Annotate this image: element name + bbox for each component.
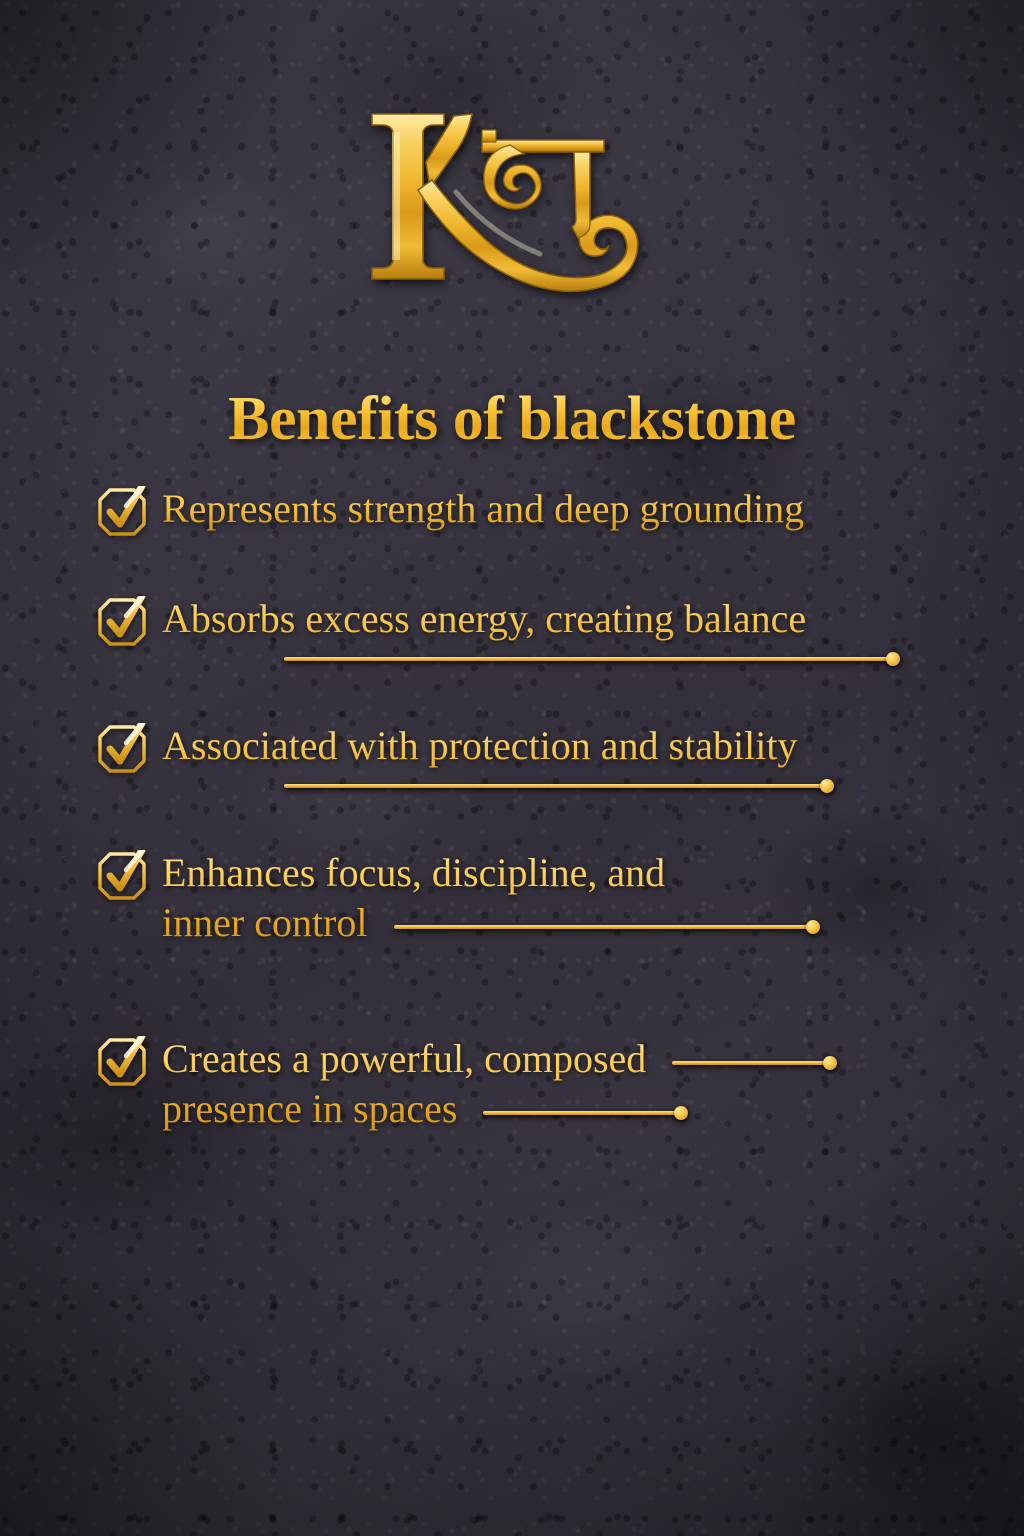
list-item-text: Associated with protection and stability	[162, 721, 976, 793]
list-item: Enhances focus, discipline, and inner co…	[96, 848, 976, 948]
connector-bar	[394, 925, 811, 929]
list-item-line-2: presence in spaces	[162, 1084, 976, 1134]
list-item-text: Enhances focus, discipline, and inner co…	[162, 848, 976, 948]
connector-line	[394, 920, 820, 934]
connector-line	[162, 779, 976, 793]
list-item: Absorbs excess energy, creating balance	[96, 594, 976, 666]
connector-bar	[284, 784, 829, 788]
list-item-text: Represents strength and deep grounding	[162, 484, 976, 534]
connector-line	[162, 652, 976, 666]
list-item-line: Associated with protection and stability	[162, 721, 976, 771]
connector-line	[483, 1106, 688, 1120]
poster-canvas: Benefits of blackstone Represents streng…	[0, 0, 1024, 1536]
checkbox-checked-icon	[96, 850, 148, 902]
list-item-line-text: presence in spaces	[162, 1086, 457, 1131]
list-item: Represents strength and deep grounding	[96, 484, 976, 538]
checkbox-checked-icon	[96, 1036, 148, 1088]
brand-monogram-k-logo	[336, 96, 688, 296]
list-item-line: Absorbs excess energy, creating balance	[162, 594, 976, 644]
list-item-text: Creates a powerful, composed presence in…	[162, 1034, 976, 1134]
connector-bar	[483, 1111, 679, 1115]
list-item-text: Absorbs excess energy, creating balance	[162, 594, 976, 666]
list-item-line: Enhances focus, discipline, and	[162, 848, 976, 898]
connector-bar	[284, 657, 895, 661]
connector-end-dot-icon	[806, 920, 820, 934]
list-item-line-1: Creates a powerful, composed	[162, 1034, 976, 1084]
list-item-line: Represents strength and deep grounding	[162, 484, 976, 534]
connector-end-dot-icon	[674, 1106, 688, 1120]
benefits-list: Represents strength and deep grounding A…	[96, 484, 976, 1134]
connector-line	[672, 1056, 837, 1070]
page-title: Benefits of blackstone	[0, 387, 1024, 452]
list-item: Creates a powerful, composed presence in…	[96, 1034, 976, 1134]
list-item: Associated with protection and stability	[96, 721, 976, 793]
connector-end-dot-icon	[820, 779, 834, 793]
checkbox-checked-icon	[96, 723, 148, 775]
checkbox-checked-icon	[96, 486, 148, 538]
list-item-line-text: inner control	[162, 900, 368, 945]
connector-bar	[672, 1061, 828, 1065]
list-item-line-text: Creates a powerful, composed	[162, 1036, 646, 1081]
list-item-line-2: inner control	[162, 898, 976, 948]
brand-logo	[0, 96, 1024, 296]
connector-end-dot-icon	[823, 1056, 837, 1070]
connector-end-dot-icon	[886, 652, 900, 666]
checkbox-checked-icon	[96, 596, 148, 648]
poster-content: Benefits of blackstone Represents streng…	[0, 0, 1024, 1536]
